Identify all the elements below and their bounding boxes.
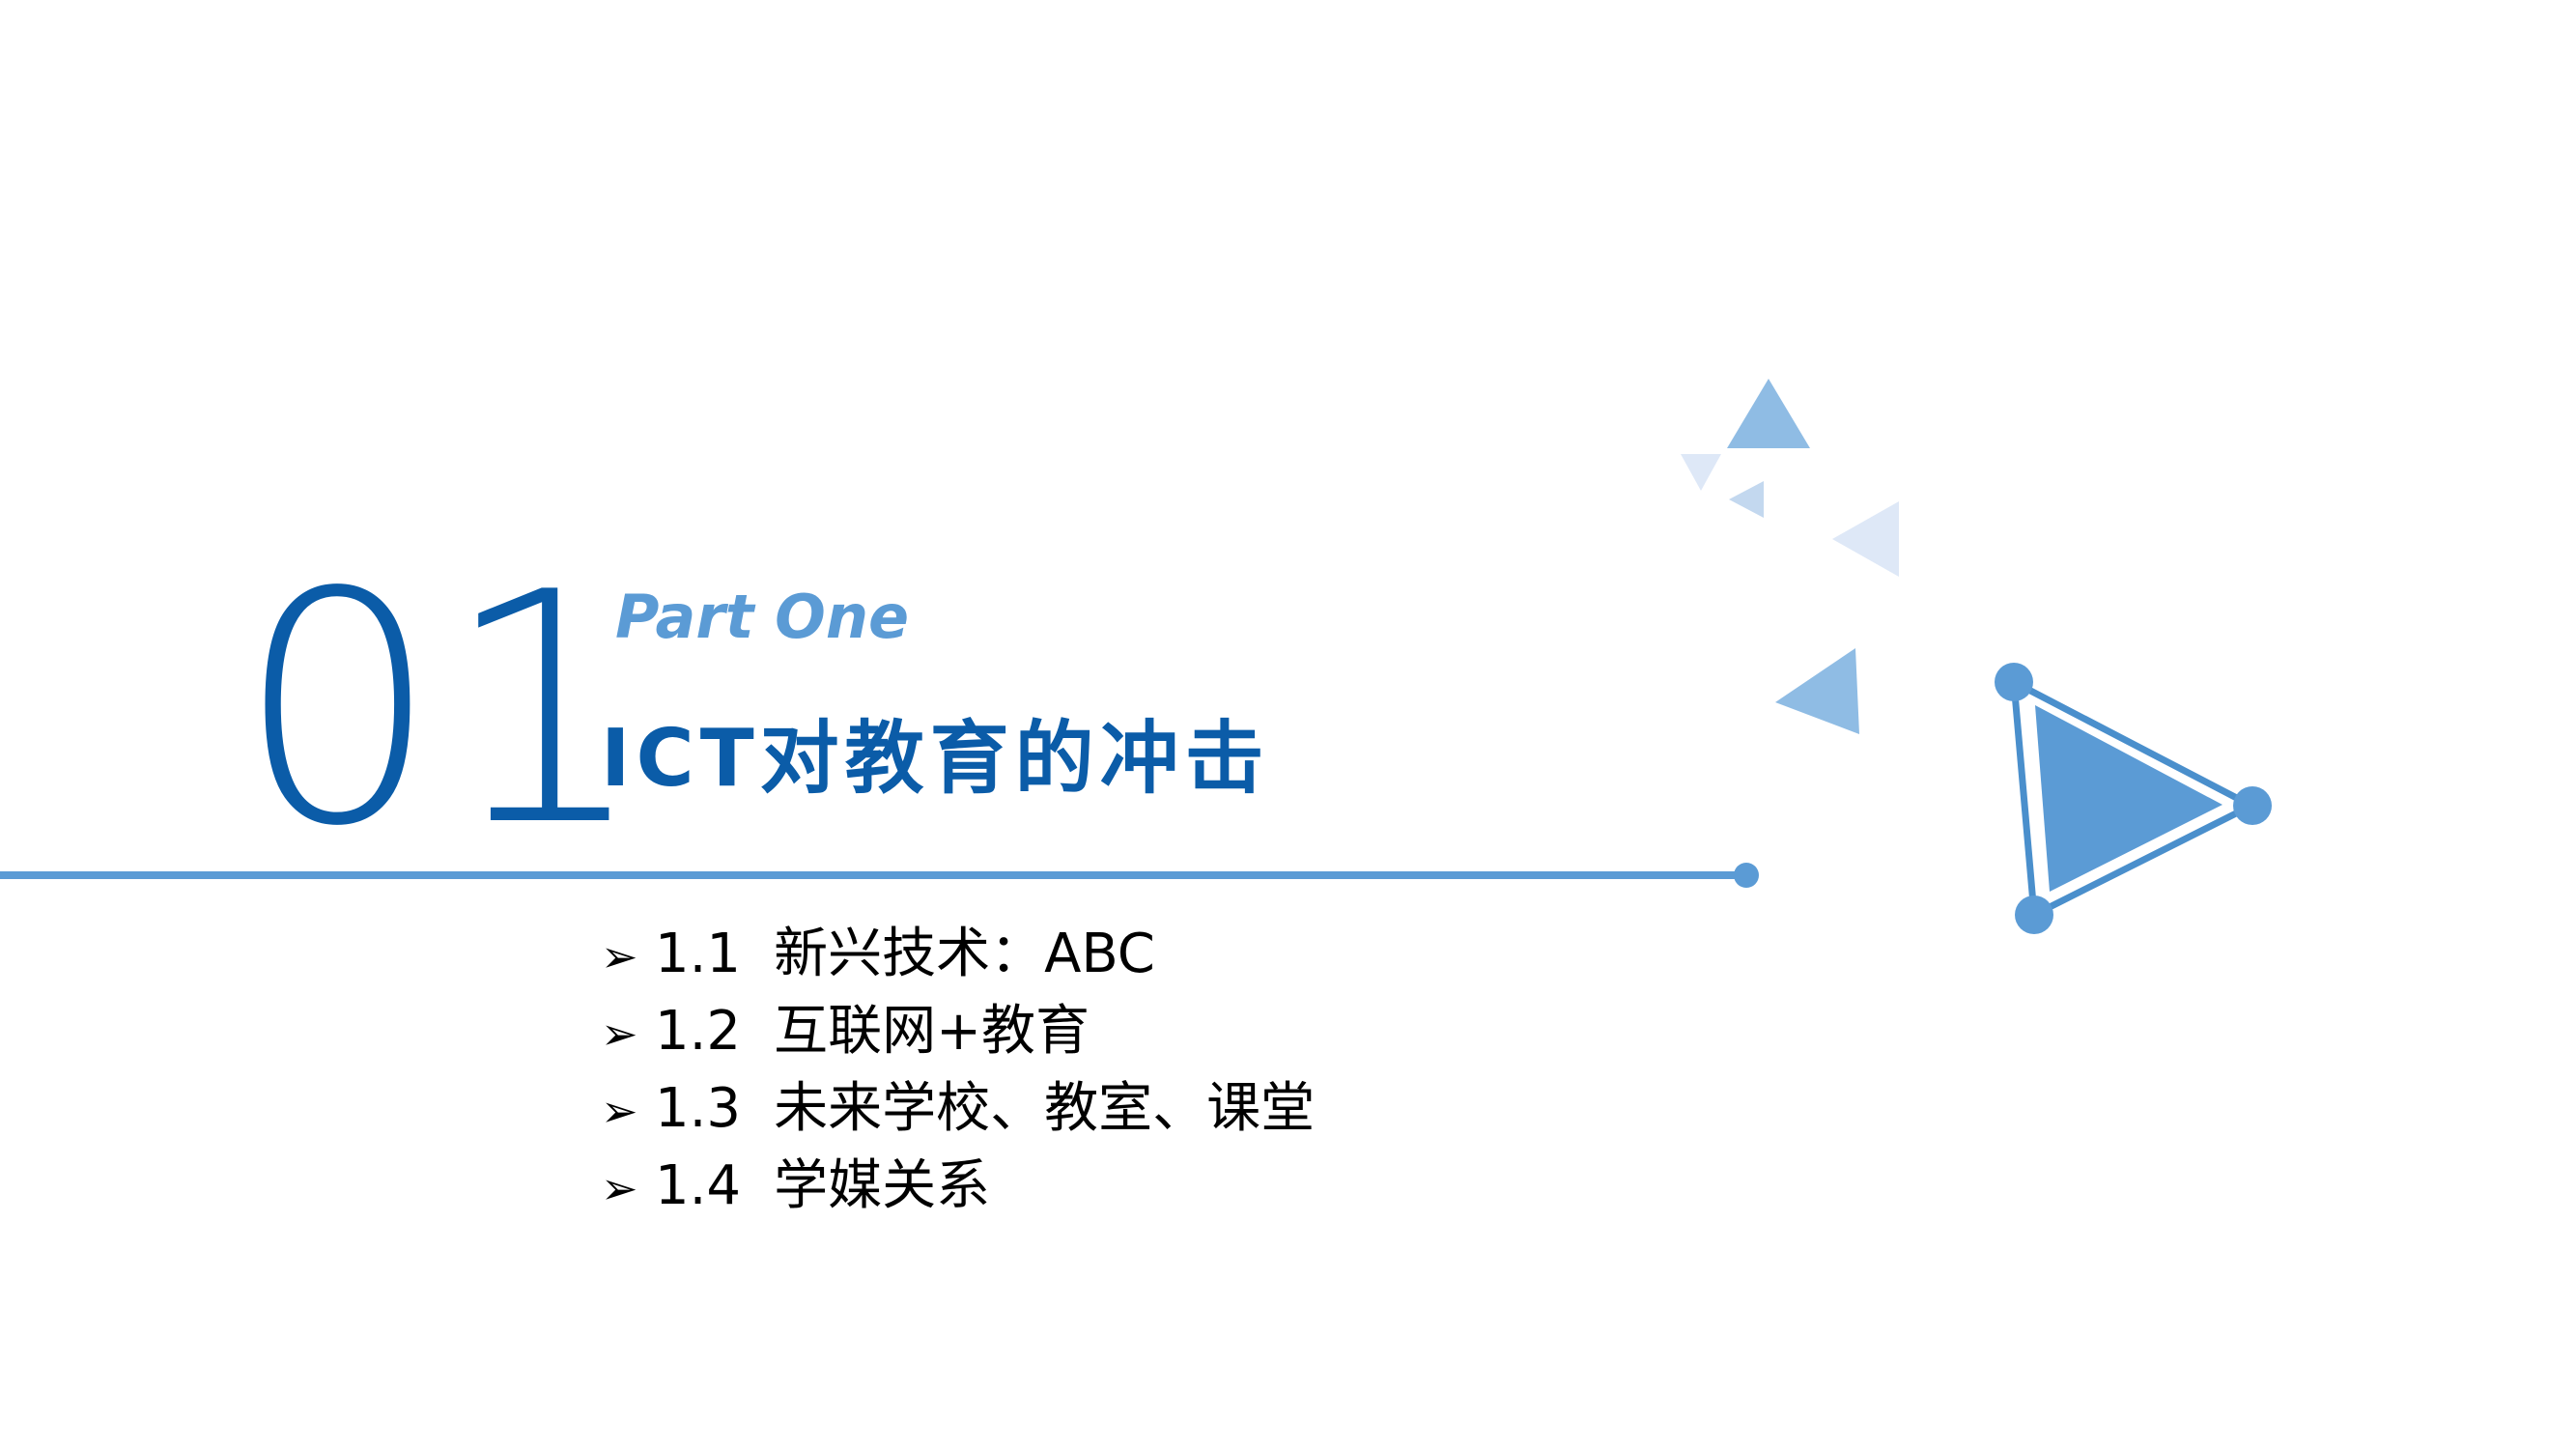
page-title: ICT对教育的冲击 bbox=[601, 717, 1270, 803]
divider-endpoint-dot bbox=[1734, 863, 1759, 888]
triangle-left-soft-icon bbox=[1729, 481, 1764, 518]
list-item[interactable]: ➢ 1.1 新兴技术：ABC bbox=[601, 916, 1663, 993]
list-item-number: 1.1 bbox=[655, 916, 741, 993]
section-number: 01 bbox=[237, 551, 650, 869]
list-item-label: 互联网+教育 bbox=[774, 993, 1090, 1070]
list-item[interactable]: ➢ 1.3 未来学校、教室、课堂 bbox=[601, 1070, 1663, 1148]
triangle-up-medium-icon bbox=[1727, 379, 1810, 448]
list-item-number: 1.4 bbox=[655, 1148, 741, 1225]
bullet-arrow-icon: ➢ bbox=[601, 1150, 655, 1227]
bullet-arrow-icon: ➢ bbox=[601, 918, 655, 995]
bullet-arrow-icon: ➢ bbox=[601, 995, 655, 1072]
list-item[interactable]: ➢ 1.4 学媒关系 bbox=[601, 1148, 1663, 1225]
list-item-number: 1.2 bbox=[655, 993, 741, 1070]
list-item-label: 新兴技术：ABC bbox=[774, 916, 1155, 993]
triangle-down-faint-icon bbox=[1681, 454, 1721, 491]
agenda-list: ➢ 1.1 新兴技术：ABC ➢ 1.2 互联网+教育 ➢ 1.3 未来学校、教… bbox=[601, 916, 1663, 1225]
node-triangle-emblem-icon bbox=[1995, 663, 2272, 934]
divider bbox=[0, 863, 1775, 888]
slide-canvas: 01 Part One ICT对教育的冲击 ➢ 1.1 新兴技术：ABC ➢ 1… bbox=[0, 0, 2576, 1450]
section-eyebrow: Part One bbox=[615, 587, 909, 647]
divider-line bbox=[0, 871, 1753, 879]
list-item-label: 未来学校、教室、课堂 bbox=[774, 1070, 1315, 1148]
list-item-number: 1.3 bbox=[655, 1070, 741, 1148]
list-item-label: 学媒关系 bbox=[774, 1148, 990, 1225]
triangle-left-faint-icon bbox=[1832, 501, 1899, 577]
bullet-arrow-icon: ➢ bbox=[601, 1072, 655, 1150]
triangle-left-medium-icon bbox=[1775, 648, 1859, 734]
list-item[interactable]: ➢ 1.2 互联网+教育 bbox=[601, 993, 1663, 1070]
